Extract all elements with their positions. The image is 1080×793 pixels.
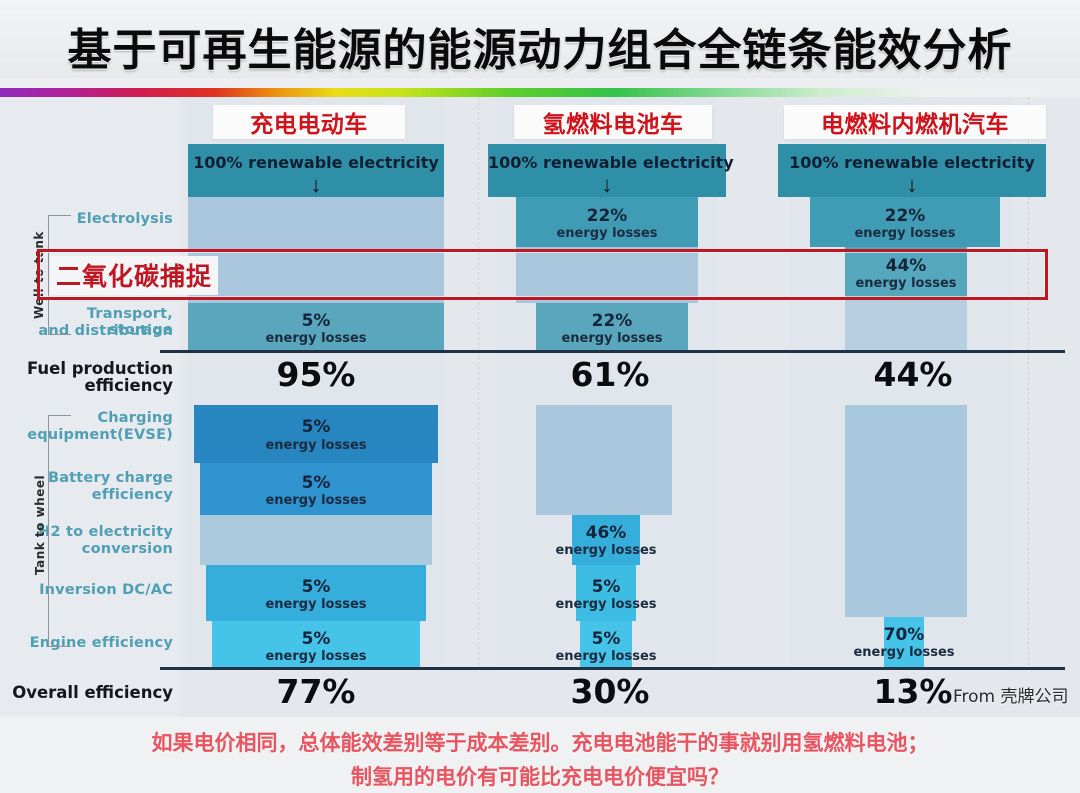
loss-sub: energy losses xyxy=(804,646,1004,659)
loss-sub: energy losses xyxy=(810,227,1000,240)
column-header-label: 电燃料内燃机汽车 xyxy=(821,105,1009,139)
bar-engine-fcev: 5% energy losses xyxy=(580,621,632,667)
bar-passthrough-efuel-1 xyxy=(845,299,967,350)
column-header-fcev[interactable]: 氢燃料电池车 xyxy=(514,105,712,139)
loss-pct: 5% xyxy=(200,475,432,492)
stage-label-charging: Charging xyxy=(20,410,173,426)
rainbow-divider xyxy=(0,88,1080,97)
bar-inversion-bev: 5% energy losses xyxy=(206,565,426,621)
stage-label-engine: Engine efficiency xyxy=(14,635,173,651)
bar-inversion-fcev: 5% energy losses xyxy=(576,565,636,621)
bar-h2-fcev: 46% energy losses xyxy=(572,515,640,565)
column-header-efuel[interactable]: 电燃料内燃机汽车 xyxy=(784,105,1046,139)
loss-sub: energy losses xyxy=(506,598,706,611)
stage-label-inversion: Inversion DC/AC xyxy=(14,582,173,598)
gridline xyxy=(478,97,480,665)
brace-tank-to-wheel xyxy=(48,415,71,647)
loss-pct: 5% xyxy=(206,579,426,596)
down-arrow-icon: ↓ xyxy=(778,174,1046,196)
slide-canvas: 基于可再生能源的能源动力组合全链条能效分析 充电电动车 氢燃料电池车 电燃料内燃… xyxy=(0,0,1080,793)
loss-sub: energy losses xyxy=(206,598,426,611)
bar-source-efuel: 100% renewable electricity ↓ xyxy=(778,144,1046,197)
value-fuel-efficiency-efuel: 44% xyxy=(780,358,1046,391)
bar-transport-fcev: 22% energy losses xyxy=(536,303,688,350)
loss-pct: 46% xyxy=(506,525,706,542)
summary-label-fuel-production-2: efficiency xyxy=(10,377,173,395)
value-fuel-efficiency-bev: 95% xyxy=(188,358,444,391)
loss-pct: 5% xyxy=(194,419,438,436)
bar-charging-bev: 5% energy losses xyxy=(194,405,438,463)
loss-pct: 70% xyxy=(804,627,1004,644)
stage-label-electrolysis: Electrolysis xyxy=(20,211,173,227)
bar-electrolysis-fcev: 22% energy losses xyxy=(516,197,698,247)
group-label-tank-to-wheel: Tank to wheel xyxy=(33,485,47,575)
value-overall-bev: 77% xyxy=(188,675,444,708)
bar-engine-bev: 5% energy losses xyxy=(212,621,420,667)
source-label: 100% renewable electricity xyxy=(778,153,1046,172)
page-title: 基于可再生能源的能源动力组合全链条能效分析 xyxy=(0,14,1080,78)
annotation-label-ccs: 二氧化碳捕捉 xyxy=(50,256,218,295)
column-header-label: 充电电动车 xyxy=(250,105,368,139)
stage-label-charging-2: equipment(EVSE) xyxy=(8,427,173,443)
bar-transport-bev: 5% energy losses xyxy=(188,303,444,350)
loss-pct: 5% xyxy=(188,313,444,330)
footer-caption-area: 如果电价相同，总体能效差别等于成本差别。充电电池能干的事就别用氢燃料电池； 制氢… xyxy=(0,717,1080,793)
loss-sub: energy losses xyxy=(506,544,706,557)
stage-label-transport-2: and distribution xyxy=(20,323,173,339)
loss-pct: 22% xyxy=(810,208,1000,225)
loss-sub: energy losses xyxy=(536,332,688,345)
source-label: 100% renewable electricity xyxy=(488,153,726,172)
down-arrow-icon: ↓ xyxy=(488,174,726,196)
column-header-label: 氢燃料电池车 xyxy=(543,105,684,139)
column-header-bev[interactable]: 充电电动车 xyxy=(213,105,405,139)
loss-sub: energy losses xyxy=(506,650,706,663)
loss-pct: 22% xyxy=(536,313,688,330)
down-arrow-icon: ↓ xyxy=(188,174,444,196)
loss-sub: energy losses xyxy=(194,439,438,452)
loss-pct: 22% xyxy=(516,208,698,225)
bar-source-bev: 100% renewable electricity ↓ xyxy=(188,144,444,197)
source-label: 100% renewable electricity xyxy=(188,153,444,172)
value-overall-fcev: 30% xyxy=(490,675,730,708)
loss-pct: 5% xyxy=(506,631,706,648)
loss-sub: energy losses xyxy=(212,650,420,663)
divider-overall xyxy=(160,667,1065,670)
caption-line-2: 制氢用的电价有可能比充电电价便宜吗？ xyxy=(0,761,1080,791)
bar-engine-efuel: 70% energy losses xyxy=(884,617,924,667)
caption-line-1: 如果电价相同，总体能效差别等于成本差别。充电电池能干的事就别用氢燃料电池； xyxy=(0,727,1080,757)
source-watermark: From 壳牌公司 xyxy=(953,682,1069,707)
summary-label-overall: Overall efficiency xyxy=(4,684,173,702)
bar-battery-bev: 5% energy losses xyxy=(200,463,432,515)
loss-sub: energy losses xyxy=(188,332,444,345)
divider-fuel-production xyxy=(160,350,1065,353)
title-band: 基于可再生能源的能源动力组合全链条能效分析 xyxy=(0,0,1080,78)
loss-pct: 5% xyxy=(506,579,706,596)
loss-sub: energy losses xyxy=(516,227,698,240)
bar-electrolysis-efuel: 22% energy losses xyxy=(810,197,1000,247)
loss-sub: energy losses xyxy=(200,494,432,507)
value-fuel-efficiency-fcev: 61% xyxy=(490,358,730,391)
loss-pct: 5% xyxy=(212,631,420,648)
bar-passthrough-fcev-2 xyxy=(536,405,672,515)
chart-area: 充电电动车 氢燃料电池车 电燃料内燃机汽车 100% renewable ele… xyxy=(0,97,1080,717)
bar-passthrough-efuel-2 xyxy=(845,405,967,617)
bar-source-fcev: 100% renewable electricity ↓ xyxy=(488,144,726,197)
bar-passthrough-bev-2 xyxy=(200,515,432,565)
